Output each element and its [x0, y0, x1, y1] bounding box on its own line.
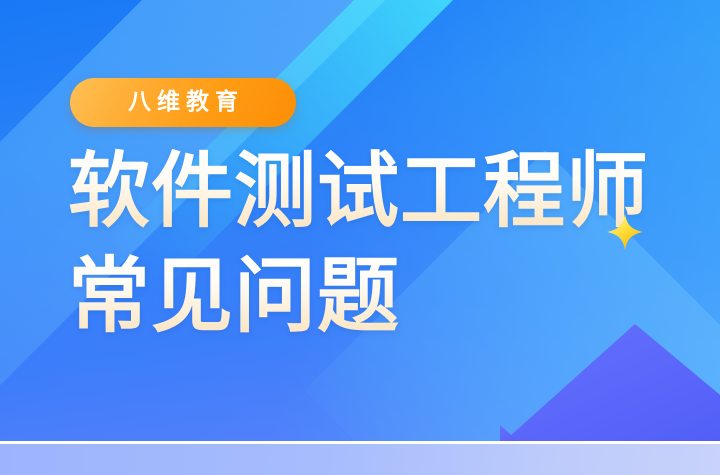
promo-banner: 八维教育 软件测试工程师 常见问题 — [0, 0, 720, 475]
headline-block: 软件测试工程师 常见问题 — [68, 140, 688, 350]
brand-badge-label: 八维教育 — [122, 91, 244, 114]
bottom-divider-line — [0, 441, 720, 444]
headline-line-2: 常见问题 — [68, 245, 688, 350]
bottom-accent-band — [0, 444, 720, 475]
headline-line-1: 软件测试工程师 — [68, 140, 688, 245]
brand-badge: 八维教育 — [70, 78, 296, 127]
